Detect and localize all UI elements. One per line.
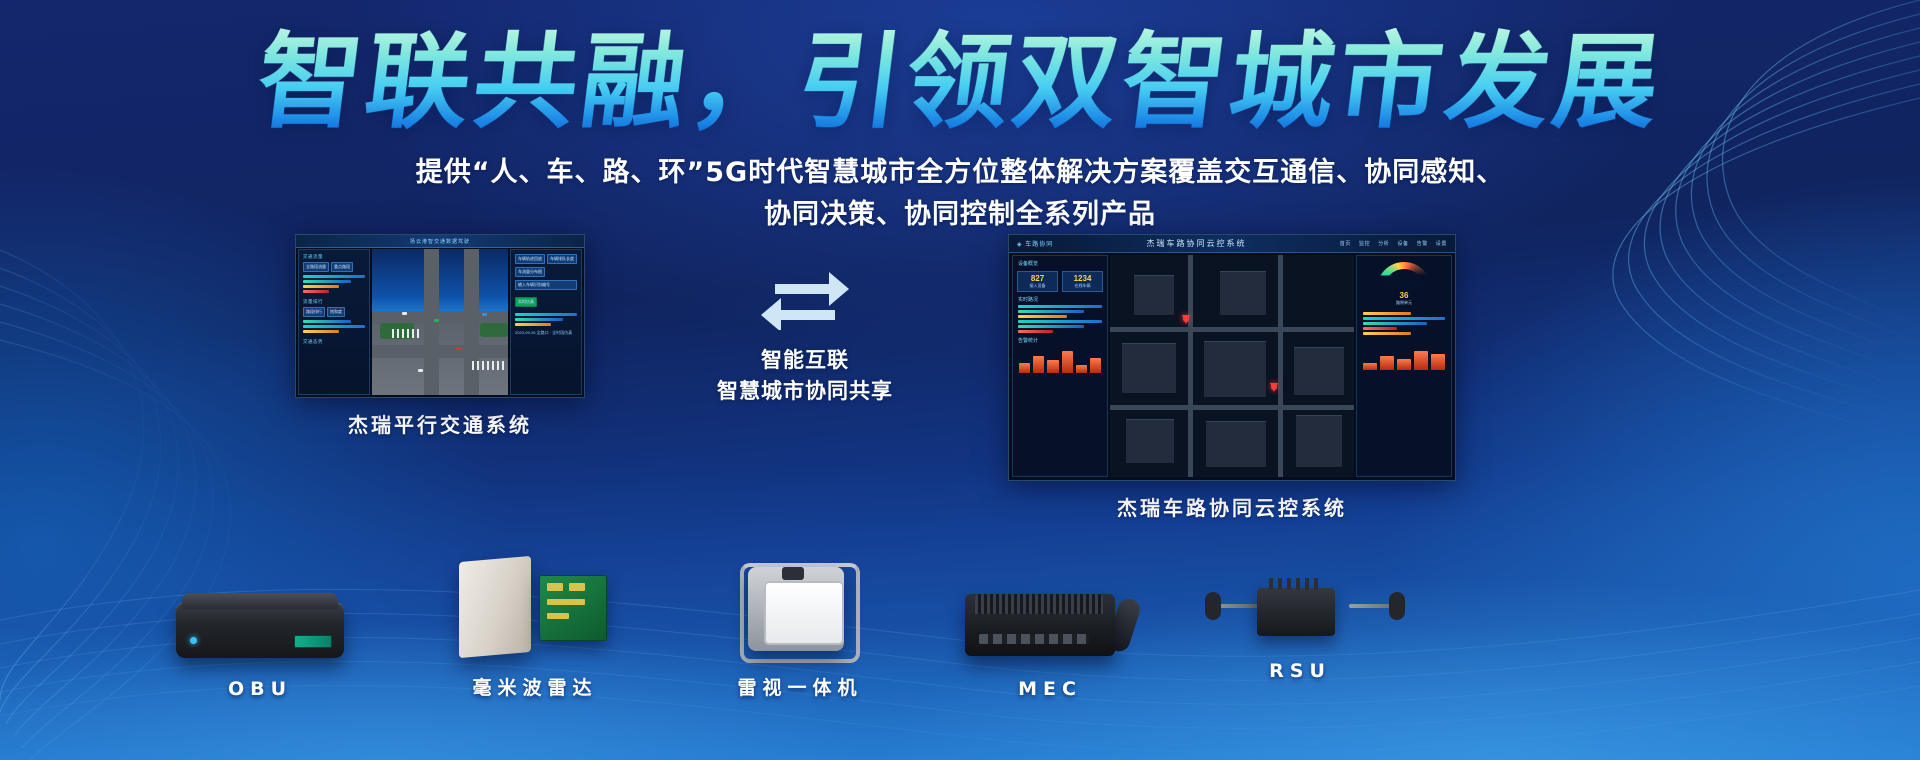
map-building <box>1126 419 1174 463</box>
road-horizontal-2 <box>372 345 508 358</box>
radar-pcb-board <box>539 575 607 641</box>
map-street <box>1188 255 1193 477</box>
vehicle <box>402 312 407 315</box>
gauge-value: 36 <box>1357 291 1451 300</box>
stat-bar <box>1018 325 1084 328</box>
stat-bar <box>1363 322 1427 325</box>
vehicle <box>482 313 487 316</box>
stat-bar <box>1018 330 1053 333</box>
panel-section-situation: 交通态势 <box>303 339 365 345</box>
product-mec[interactable]: MEC <box>950 582 1150 700</box>
kpi-group: 827 接入设备 1234 在线车辆 <box>1017 271 1103 292</box>
kpi-value: 827 <box>1020 274 1055 283</box>
subtitle-line-1: 提供“人、车、路、环”5G时代智慧城市全方位整体解决方案覆盖交互通信、协同感知、 <box>0 152 1920 194</box>
map-building <box>1134 275 1174 315</box>
grass-patch <box>480 323 508 337</box>
rsu-device-image <box>1205 574 1405 650</box>
obu-device-image <box>176 602 344 668</box>
obu-top-shell <box>182 593 338 609</box>
product-name: MEC <box>950 678 1150 700</box>
page-subtitle: 提供“人、车、路、环”5G时代智慧城市全方位整体解决方案覆盖交互通信、协同感知、… <box>0 152 1920 236</box>
radar-device-image <box>447 559 623 663</box>
stat-bar <box>1363 312 1411 315</box>
tab-chip[interactable]: 路段排行 <box>303 307 325 317</box>
camera-lens-icon <box>782 567 804 580</box>
section-title: 流量排行 <box>303 299 365 305</box>
stat-bar <box>1018 315 1067 318</box>
vehicle <box>456 347 461 350</box>
realtime-toggle[interactable]: 实时仿真 <box>515 297 537 307</box>
map-pin[interactable] <box>1270 383 1278 392</box>
product-name: RSU <box>1205 660 1395 682</box>
obu-port-block <box>294 635 332 648</box>
product-rsu[interactable]: RSU <box>1205 574 1395 682</box>
vehicle <box>418 369 423 372</box>
crosswalk <box>392 329 420 338</box>
map-street <box>1110 327 1354 332</box>
playback-controls[interactable]: 车辆轨迹回放 车辆排队长度 车流量分布图 输入车辆识别编号 实时仿真 2023-… <box>515 254 577 336</box>
kpi-card: 1234 在线车辆 <box>1062 271 1103 292</box>
dashboard-left-sidepanel[interactable]: 交通流量 全路段流量 重点路段 流量排行 路段排行 饱和度 <box>298 249 370 395</box>
rank-bar <box>303 325 365 328</box>
dashboard-right-frame: ◈ 车路协同 杰瑞车路协同云控系统 首页 监控 分析 设备 告警 设置 设备概览… <box>1008 234 1456 481</box>
button-chip[interactable]: 车辆排队长度 <box>547 254 577 264</box>
road-vertical-2 <box>464 249 479 395</box>
screenshot-parallel-traffic[interactable]: 扬云港智交通数据驾驶 交通流量 全路段流量 重点路段 <box>295 234 585 438</box>
nav-item[interactable]: 设置 <box>1436 240 1447 247</box>
stat-bar <box>1363 317 1445 320</box>
interconnect-line-1: 智能互联 <box>710 345 900 376</box>
left-bars <box>1013 305 1107 333</box>
kpi-label: 接入设备 <box>1020 283 1055 289</box>
mec-device-image <box>965 582 1135 668</box>
map-street <box>1278 255 1283 477</box>
playback-footer: 2023-09-26 全路口 · 全时段仿真 <box>515 330 577 336</box>
dashboard-left-header: 扬云港智交通数据驾驶 <box>296 235 584 248</box>
nav-item[interactable]: 首页 <box>1340 240 1351 247</box>
map-building <box>1294 347 1344 395</box>
tab-chip[interactable]: 全路段流量 <box>303 262 329 272</box>
map-pin[interactable] <box>1182 315 1190 324</box>
flow-bar <box>303 290 329 293</box>
rsu-body <box>1257 588 1335 636</box>
kpi-label: 在线车辆 <box>1065 283 1100 289</box>
interconnect-block: 智能互联 智慧城市协同共享 <box>710 262 900 407</box>
map-building <box>1204 341 1266 397</box>
mec-body <box>965 594 1115 656</box>
cloud-left-panel[interactable]: 设备概览 827 接入设备 1234 在线车辆 实时路况 告 <box>1012 255 1108 477</box>
rank-bar <box>303 320 351 323</box>
tab-chip[interactable]: 重点路段 <box>331 262 353 272</box>
intersection-3d-scene <box>372 249 508 395</box>
dashboard-left-frame: 扬云港智交通数据驾驶 交通流量 全路段流量 重点路段 <box>295 234 585 398</box>
rsu-top-connectors <box>1269 578 1323 590</box>
health-gauge <box>1377 262 1431 289</box>
button-chip[interactable]: 车流量分布图 <box>515 267 545 277</box>
panel-title: 告警统计 <box>1018 337 1107 344</box>
panel-title: 实时路况 <box>1018 296 1107 303</box>
cloud-dashboard-header: ◈ 车路协同 杰瑞车路协同云控系统 首页 监控 分析 设备 告警 设置 <box>1009 235 1455 253</box>
right-bars <box>1357 306 1451 341</box>
mec-heatsink-fins <box>975 594 1103 614</box>
product-radar-camera-unit[interactable]: 雷视一体机 <box>700 563 900 700</box>
map-street <box>1110 405 1354 410</box>
page-title: 智联共融，引领双智城市发展 <box>0 28 1920 137</box>
panel-title: 设备概览 <box>1018 260 1107 267</box>
map-building <box>1122 343 1176 393</box>
obu-body <box>176 602 344 658</box>
metric-bar <box>515 313 577 316</box>
radar-enclosure <box>459 556 531 658</box>
flow-bar <box>303 275 365 278</box>
flow-tabs[interactable]: 全路段流量 重点路段 <box>303 262 365 272</box>
camera-face-panel <box>764 581 844 645</box>
crosswalk <box>472 361 506 370</box>
flow-bar <box>303 280 351 283</box>
vehicle-search-input[interactable]: 输入车辆识别编号 <box>515 280 577 290</box>
map-building <box>1296 415 1342 467</box>
obu-status-led-icon <box>190 637 197 644</box>
nav-item[interactable]: 设备 <box>1397 240 1408 247</box>
vehicle <box>434 319 439 322</box>
kpi-card: 827 接入设备 <box>1017 271 1058 292</box>
cloud-right-panel[interactable]: 36 路侧单元 <box>1356 255 1452 477</box>
screenshot-cloud-control[interactable]: ◈ 车路协同 杰瑞车路协同云控系统 首页 监控 分析 设备 告警 设置 设备概览… <box>1008 234 1456 521</box>
interconnect-line-2: 智慧城市协同共享 <box>710 376 900 407</box>
panel-section-flow: 交通流量 全路段流量 重点路段 <box>303 254 365 293</box>
rank-chips[interactable]: 路段排行 饱和度 <box>303 307 365 317</box>
product-name: 毫米波雷达 <box>435 673 635 700</box>
road-vertical <box>424 249 439 395</box>
stat-bar <box>1018 305 1102 308</box>
rsu-antenna-right <box>1389 592 1405 620</box>
trend-mini-chart <box>1363 346 1445 370</box>
stat-bar <box>1018 320 1102 323</box>
rank-bar <box>303 330 339 333</box>
kpi-value: 1234 <box>1065 274 1100 283</box>
stat-bar <box>1363 327 1397 330</box>
swap-horizontal-arrows-icon <box>759 262 851 330</box>
tab-chip[interactable]: 饱和度 <box>327 307 345 317</box>
screenshot-left-caption: 杰瑞平行交通系统 <box>295 409 585 438</box>
panel-section-rank: 流量排行 路段排行 饱和度 <box>303 299 365 333</box>
dashboard-right-sidepanel[interactable]: 车辆轨迹回放 车辆排队长度 车流量分布图 输入车辆识别编号 实时仿真 2023-… <box>510 249 582 395</box>
dashboard-left-title: 扬云港智交通数据驾驶 <box>410 238 470 245</box>
product-name: 雷视一体机 <box>700 673 900 700</box>
camera-shell <box>748 567 844 651</box>
alarm-mini-chart <box>1019 349 1101 373</box>
city-map[interactable] <box>1110 255 1354 477</box>
nav-item[interactable]: 监控 <box>1359 240 1370 247</box>
brand-logo: ◈ 车路协同 <box>1017 239 1053 248</box>
map-building <box>1220 271 1266 315</box>
button-chip[interactable]: 车辆轨迹回放 <box>515 254 545 264</box>
cloud-dashboard-title: 杰瑞车路协同云控系统 <box>1061 238 1331 249</box>
mec-io-ports <box>979 634 1089 644</box>
subtitle-line-2: 协同决策、协同控制全系列产品 <box>0 194 1920 236</box>
nav-item[interactable]: 告警 <box>1417 240 1428 247</box>
flow-bar <box>303 285 339 288</box>
product-mmwave-radar[interactable]: 毫米波雷达 <box>435 559 635 700</box>
product-name: OBU <box>170 678 350 700</box>
metric-bar <box>515 318 563 321</box>
stat-bar <box>1363 332 1411 335</box>
nav-item[interactable]: 分析 <box>1378 240 1389 247</box>
rsu-antenna-left <box>1205 592 1221 620</box>
camera-device-image <box>740 563 860 663</box>
map-building <box>1206 421 1266 467</box>
metric-bar <box>515 323 551 326</box>
section-title: 交通态势 <box>303 339 365 345</box>
stat-bar <box>1018 310 1084 313</box>
section-title: 交通流量 <box>303 254 365 260</box>
product-obu[interactable]: OBU <box>170 602 350 700</box>
product-row: OBU 毫米波雷达 雷视一体机 <box>0 500 1920 760</box>
